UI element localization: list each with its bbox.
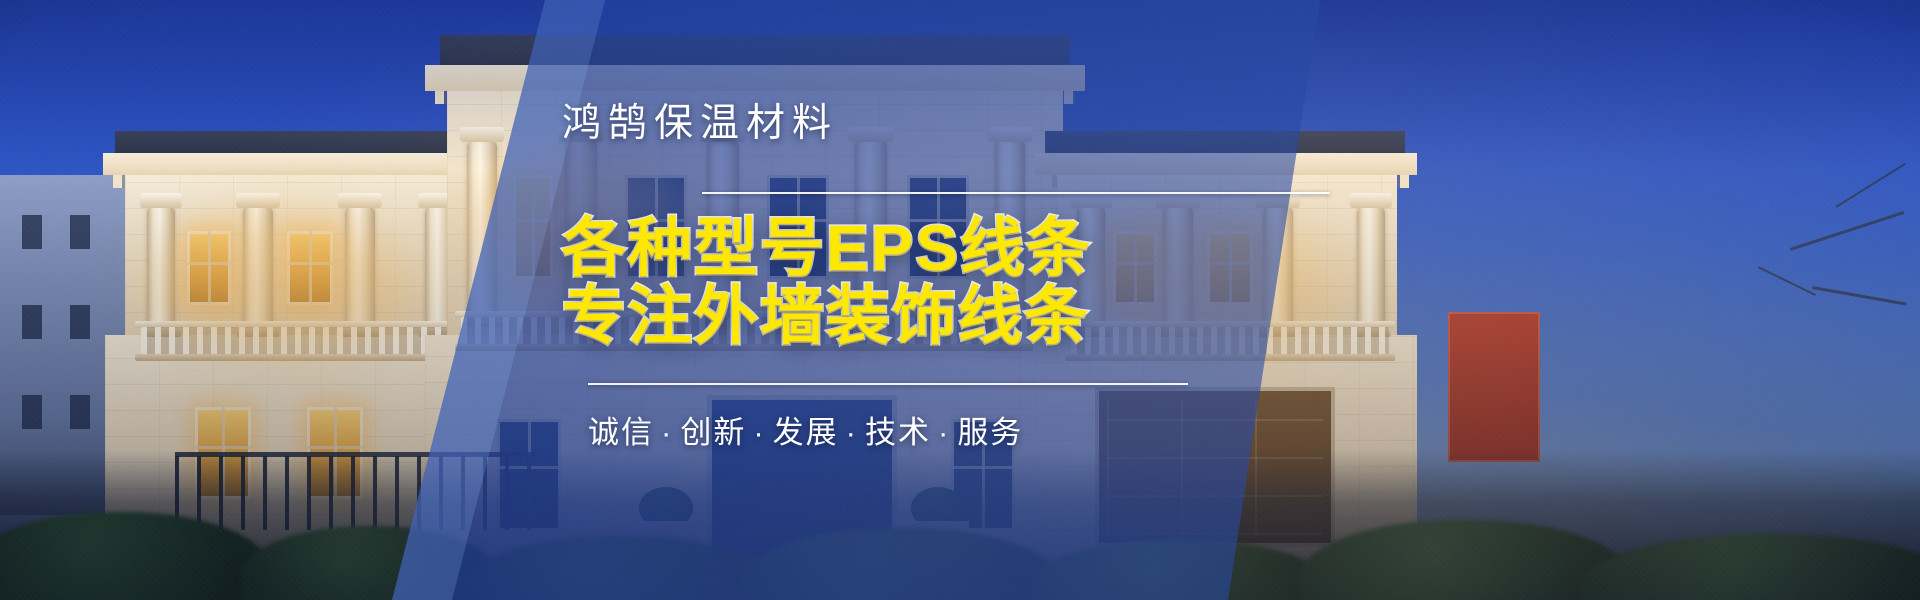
hero-banner: 鸿鹄保温材料 各种型号EPS线条 专注外墙装饰线条 诚信·创新·发展·技术·服务 xyxy=(0,0,1920,600)
center-cornice xyxy=(425,65,1085,91)
tagline-separator: · xyxy=(931,415,957,450)
column xyxy=(1357,207,1385,327)
column xyxy=(147,207,175,327)
headline-line-1: 各种型号EPS线条 xyxy=(562,212,1092,284)
tagline-separator: · xyxy=(654,415,680,450)
tagline-item: 技术 xyxy=(865,415,931,450)
tagline-item: 诚信 xyxy=(588,415,654,450)
left-wing-cornice xyxy=(103,153,483,175)
balustrade xyxy=(141,321,459,361)
window-lit xyxy=(287,231,333,305)
window-lit xyxy=(187,231,231,305)
tagline-separator: · xyxy=(746,415,772,450)
red-structure xyxy=(1448,312,1540,462)
banner-copy: 鸿鹄保温材料 各种型号EPS线条 专注外墙装饰线条 诚信·创新·发展·技术·服务 xyxy=(562,104,1352,452)
divider-bottom xyxy=(588,383,1188,385)
tagline-item: 发展 xyxy=(773,415,839,450)
divider-top xyxy=(702,192,1330,194)
headline: 各种型号EPS线条 专注外墙装饰线条 xyxy=(562,214,1352,351)
tagline: 诚信·创新·发展·技术·服务 xyxy=(588,407,1352,452)
brand-name: 鸿鹄保温材料 xyxy=(562,104,1352,143)
column xyxy=(243,207,273,327)
column xyxy=(345,207,375,327)
headline-line-2: 专注外墙装饰线条 xyxy=(562,282,1352,350)
center-roof xyxy=(440,35,1070,69)
window-lit xyxy=(513,175,553,279)
tagline-separator: · xyxy=(839,415,865,450)
tagline-item: 服务 xyxy=(957,415,1023,450)
tagline-item: 创新 xyxy=(680,415,746,450)
iron-fence xyxy=(175,452,535,530)
column xyxy=(467,141,497,317)
